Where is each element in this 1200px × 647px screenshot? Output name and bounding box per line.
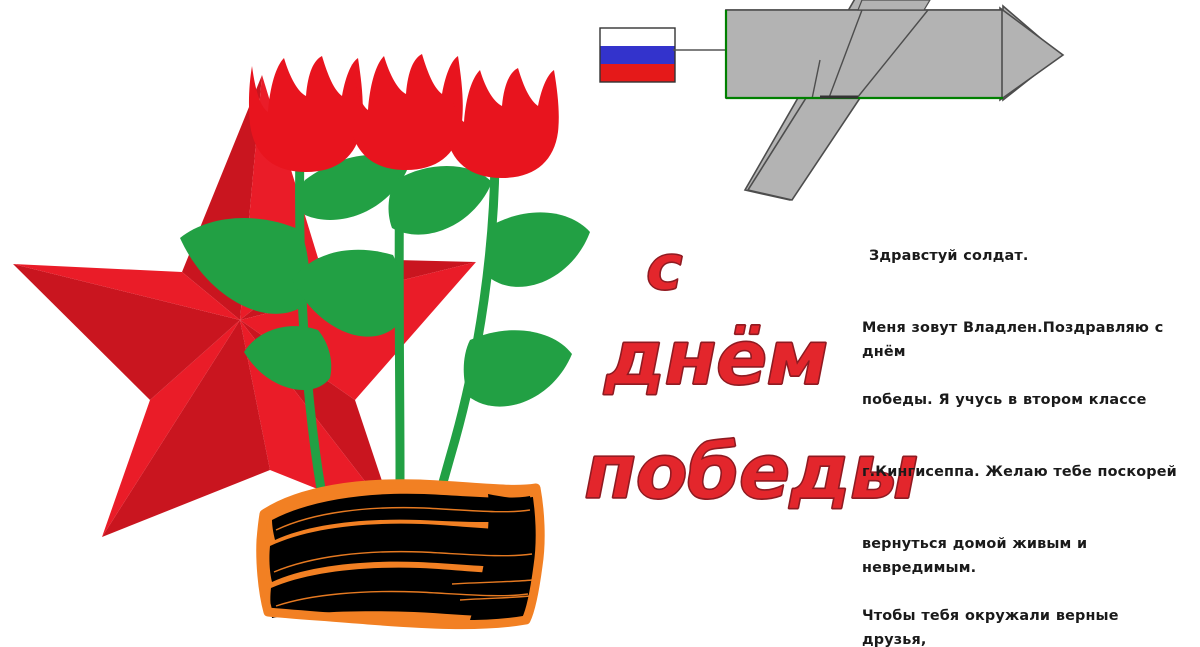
flag-stripe-red	[600, 64, 675, 82]
tank-arrow-head	[1000, 8, 1063, 100]
letter-line: победы. Я учусь в втором классе	[862, 388, 1184, 412]
letter-line: Чтобы тебя окружали верные друзья,	[862, 604, 1184, 628]
st-george-ribbon	[261, 484, 540, 625]
letter-line: г.Кингисеппа. Желаю тебе поскорей	[862, 460, 1184, 484]
russian-tricolor-flag	[600, 28, 730, 82]
leaf	[486, 212, 590, 286]
greeting-line-2: днём	[604, 320, 828, 396]
flag-stripe-white	[600, 28, 675, 46]
leaf	[464, 330, 572, 406]
letter-line: Меня зовут Владлен.Поздравляю с днём	[862, 316, 1184, 340]
greeting-line-1: с	[646, 237, 683, 299]
letter-line: Здравстуй солдат.	[862, 244, 1184, 268]
leaf	[389, 166, 492, 235]
tank-top-band	[858, 0, 930, 10]
flag-stripe-blue	[600, 46, 675, 64]
letter-line: вернуться домой живым и невредимым.	[862, 532, 1184, 556]
tank-lower-band	[748, 98, 860, 200]
tulip-flowers	[249, 54, 559, 178]
tank-silhouette	[726, 0, 1063, 200]
letter-text-block: Здравстуй солдат. Меня зовут Владлен.Поз…	[862, 196, 1184, 647]
tulip-head	[445, 68, 559, 178]
victory-day-card: с днём победы Здравстуй солдат. Меня зов…	[0, 0, 1200, 647]
tulip-head	[249, 56, 363, 172]
